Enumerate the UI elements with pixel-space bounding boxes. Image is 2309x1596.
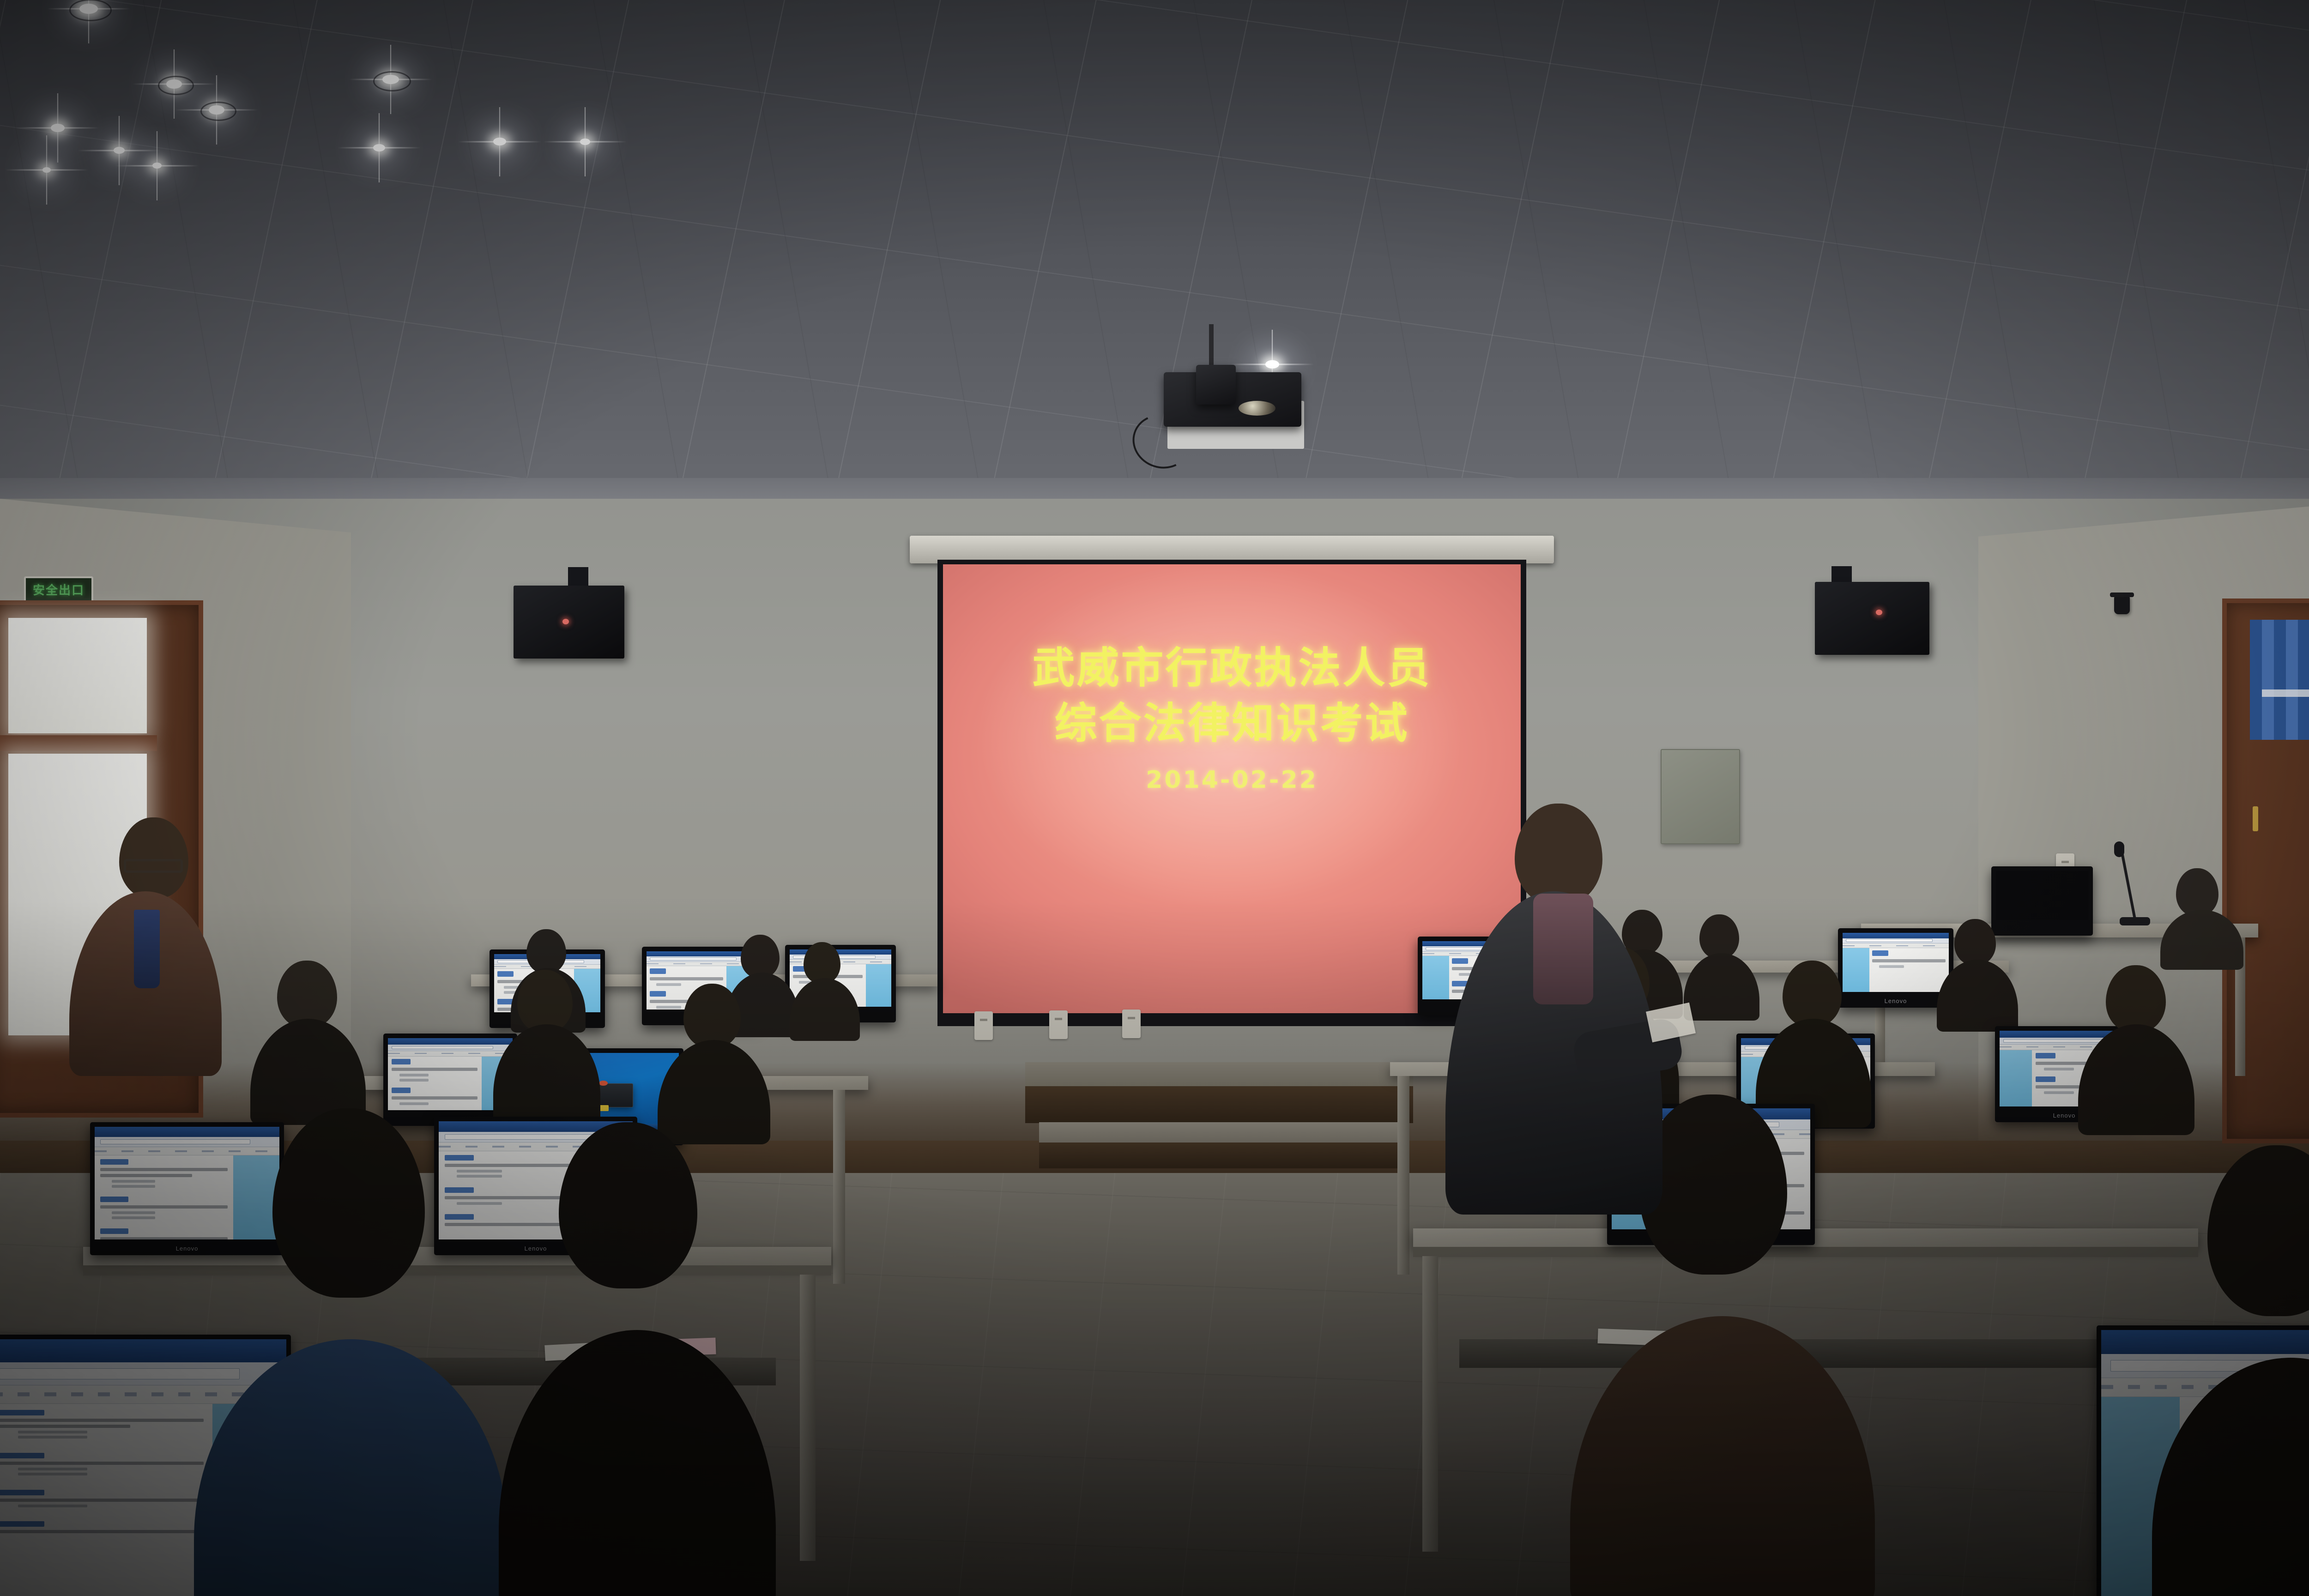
exam-sidebar[interactable] xyxy=(233,1155,279,1239)
answer-option[interactable] xyxy=(18,1436,87,1439)
person-head xyxy=(517,970,573,1033)
door-right-window-blinds xyxy=(2250,620,2309,740)
question-number-badge xyxy=(1452,958,1468,964)
downlight-icon xyxy=(493,138,506,145)
proctor-glasses-icon xyxy=(124,859,183,873)
address-input[interactable] xyxy=(445,1134,603,1140)
downlight-icon xyxy=(580,139,590,145)
answer-option[interactable] xyxy=(457,1175,502,1178)
answer-option[interactable] xyxy=(399,1102,429,1105)
wall-speaker-right xyxy=(1815,582,1929,655)
outlet-slot xyxy=(1055,1018,1062,1020)
power-outlet xyxy=(1122,1010,1141,1038)
address-input[interactable] xyxy=(2003,1039,2109,1043)
browser-titlebar xyxy=(647,951,753,956)
browser-titlebar xyxy=(790,949,891,955)
question-block xyxy=(445,1214,579,1226)
desk-leg xyxy=(800,1275,816,1561)
question-block xyxy=(392,1088,478,1105)
proctor-tie xyxy=(134,910,160,988)
door-left-mullion xyxy=(0,735,157,751)
question-number-badge xyxy=(650,991,666,997)
question-number-badge xyxy=(0,1410,44,1415)
answer-option[interactable] xyxy=(399,1074,429,1076)
question-text-line xyxy=(392,1068,478,1071)
answer-option[interactable] xyxy=(2044,1091,2074,1094)
proctor-monitor xyxy=(1991,866,2093,936)
downlight-icon xyxy=(1265,360,1279,369)
question-block xyxy=(0,1521,204,1533)
person-head xyxy=(2176,868,2218,916)
exam-question-list xyxy=(0,1404,212,1596)
monitor-brand-label: Lenovo xyxy=(2053,1112,2076,1119)
question-text-line xyxy=(0,1425,130,1428)
monitor-near-l1: Lenovo xyxy=(90,1122,284,1255)
person-head xyxy=(741,935,780,978)
projection-screen-case xyxy=(910,536,1554,563)
question-number-badge xyxy=(2036,1076,2055,1082)
question-block xyxy=(392,1059,478,1082)
question-number-badge xyxy=(100,1228,128,1234)
question-block xyxy=(0,1453,204,1475)
exam-sidebar[interactable] xyxy=(1422,956,1449,999)
downlight-icon xyxy=(373,144,385,151)
microphone-head-icon xyxy=(2114,841,2124,857)
person-head xyxy=(272,1108,425,1298)
projection-title: 武威市行政执法人员 综合法律知识考试 xyxy=(943,641,1521,751)
monitor-brand-label: Lenovo xyxy=(525,1245,547,1252)
downlight-ring xyxy=(158,76,194,95)
monitor-back-r2: Lenovo xyxy=(1838,928,1953,1008)
projector-lens-icon xyxy=(1239,401,1275,416)
exam-page xyxy=(95,1155,279,1239)
question-number-badge xyxy=(1872,950,1888,956)
desk-leg xyxy=(1397,1076,1409,1275)
answer-option[interactable] xyxy=(656,1006,681,1009)
browser-titlebar xyxy=(388,1038,513,1045)
downlight-icon xyxy=(114,147,125,154)
exam-sidebar[interactable] xyxy=(866,964,891,1007)
speaker-led-right xyxy=(1876,610,1882,615)
downlight-ring xyxy=(373,71,411,91)
browser-titlebar xyxy=(0,1339,286,1362)
question-number-badge xyxy=(445,1214,474,1220)
front-podium-riser xyxy=(1025,1086,1413,1123)
address-input[interactable] xyxy=(100,1139,250,1144)
question-text-line xyxy=(445,1196,579,1199)
answer-option[interactable] xyxy=(2044,1068,2074,1070)
question-number-badge xyxy=(0,1453,44,1458)
downlight-icon xyxy=(51,124,65,132)
answer-option[interactable] xyxy=(112,1216,155,1219)
question-text-line xyxy=(445,1223,579,1226)
question-text-line xyxy=(100,1168,228,1171)
desk-near-right-edge xyxy=(1413,1247,2198,1257)
door-left-glass-upper xyxy=(8,618,147,733)
speaker-led-left xyxy=(562,619,569,624)
question-text-line xyxy=(100,1237,228,1239)
question-number-badge xyxy=(0,1490,44,1495)
proctor-head xyxy=(119,817,188,899)
answer-option[interactable] xyxy=(18,1505,87,1507)
question-number-badge xyxy=(650,968,666,974)
projector-yoke xyxy=(1196,365,1236,405)
classroom-scene: 武威市行政执法人员 综合法律知识考试 2014-02-22 安全出口 安全出口 xyxy=(0,0,2309,1596)
question-block xyxy=(0,1490,204,1507)
downlight-ring xyxy=(200,102,236,121)
browser-address-bar[interactable] xyxy=(388,1045,513,1051)
exam-sidebar[interactable] xyxy=(1843,948,1869,992)
address-input[interactable] xyxy=(1846,939,1933,942)
question-block xyxy=(445,1187,579,1205)
browser-address-bar[interactable] xyxy=(0,1362,286,1385)
front-step xyxy=(1039,1122,1399,1143)
monitor-screen xyxy=(95,1127,279,1239)
answer-option[interactable] xyxy=(656,983,681,986)
downlight-ring xyxy=(69,0,112,21)
wall-speaker-left xyxy=(514,586,624,659)
monitor-screen xyxy=(1843,933,1949,992)
question-block xyxy=(100,1228,228,1239)
proctor-scarf xyxy=(1533,894,1593,1004)
address-input[interactable] xyxy=(0,1368,240,1379)
question-text-line xyxy=(0,1419,204,1422)
question-block xyxy=(0,1410,204,1439)
proctor-head xyxy=(1515,804,1602,905)
person-head xyxy=(683,984,741,1048)
answer-option[interactable] xyxy=(18,1473,87,1475)
desk-leg xyxy=(833,1090,845,1284)
outlet-slot xyxy=(980,1019,987,1021)
browser-address-bar[interactable] xyxy=(1843,938,1949,944)
question-number-badge xyxy=(0,1521,44,1527)
person-head xyxy=(1954,919,1996,965)
browser-address-bar[interactable] xyxy=(95,1137,279,1147)
answer-option[interactable] xyxy=(112,1211,155,1214)
answer-option[interactable] xyxy=(18,1431,87,1433)
answer-option[interactable] xyxy=(112,1180,155,1183)
answer-option[interactable] xyxy=(1879,965,1904,968)
outlet-slot xyxy=(2061,861,2069,863)
question-text-line xyxy=(100,1174,192,1177)
person-head xyxy=(804,942,840,984)
question-text-line xyxy=(0,1499,204,1502)
question-text-line xyxy=(1872,959,1946,962)
question-text-line xyxy=(100,1205,228,1209)
browser-titlebar xyxy=(1843,933,1949,938)
browser-titlebar xyxy=(2101,1330,2309,1354)
answer-option[interactable] xyxy=(457,1202,502,1205)
electrical-panel-box xyxy=(1661,749,1740,844)
outlet-slot xyxy=(1128,1017,1135,1019)
monitor-brand-label: Lenovo xyxy=(176,1245,199,1252)
exam-question-list xyxy=(1869,948,1949,992)
exam-sidebar[interactable] xyxy=(2000,1050,2032,1106)
question-number-badge xyxy=(100,1159,128,1165)
question-number-badge xyxy=(100,1197,128,1202)
question-block xyxy=(1872,950,1946,968)
browser-bookmarks-bar[interactable] xyxy=(388,1051,513,1057)
browser-address-bar[interactable] xyxy=(647,956,753,961)
address-input[interactable] xyxy=(392,1046,493,1050)
address-input[interactable] xyxy=(650,957,737,961)
ceiling xyxy=(0,0,2309,545)
downlight-icon xyxy=(42,167,51,173)
proctor-monitor-screen xyxy=(1996,871,2088,920)
question-text-line xyxy=(0,1462,204,1465)
monitor-brand-label: Lenovo xyxy=(1885,997,1907,1004)
exit-sign-left: 安全出口 xyxy=(24,576,93,602)
exam-page xyxy=(1843,948,1949,992)
person-head xyxy=(559,1122,697,1288)
wall-camera-icon xyxy=(2114,596,2130,614)
door-right-handle[interactable] xyxy=(2253,806,2258,831)
exit-sign-left-label: 安全出口 xyxy=(33,581,85,598)
front-step-riser xyxy=(1039,1143,1399,1168)
power-outlet xyxy=(974,1011,993,1040)
question-text-line xyxy=(650,977,723,980)
browser-bookmarks-bar[interactable] xyxy=(95,1147,279,1155)
projection-title-line-1: 武威市行政执法人员 xyxy=(943,641,1521,696)
dialog-indicator-red xyxy=(599,1081,608,1086)
question-block xyxy=(100,1159,228,1188)
browser-bookmarks-bar[interactable] xyxy=(1843,943,1949,948)
person-head xyxy=(1699,914,1739,959)
answer-option[interactable] xyxy=(18,1468,87,1470)
front-podium-platform xyxy=(1025,1062,1413,1088)
desk-leg xyxy=(1422,1256,1438,1552)
projection-title-line-2: 综合法律知识考试 xyxy=(943,696,1521,751)
question-number-badge xyxy=(497,999,514,1004)
answer-option[interactable] xyxy=(399,1079,429,1082)
power-outlet xyxy=(1049,1010,1068,1039)
desk-near-left-edge xyxy=(83,1265,831,1276)
question-number-badge xyxy=(445,1187,474,1193)
exam-question-list xyxy=(388,1057,482,1110)
question-text-line xyxy=(0,1530,204,1533)
person-head xyxy=(1783,961,1842,1027)
person-head xyxy=(526,929,566,973)
question-text-line xyxy=(392,1096,478,1100)
question-number-badge xyxy=(392,1088,411,1093)
person-head xyxy=(2106,965,2166,1033)
answer-option[interactable] xyxy=(457,1170,502,1173)
answer-option[interactable] xyxy=(112,1185,155,1188)
question-block xyxy=(445,1155,579,1178)
question-text-line xyxy=(445,1164,579,1167)
question-block xyxy=(100,1197,228,1219)
downlight-icon xyxy=(152,163,162,169)
question-number-badge xyxy=(392,1059,411,1064)
browser-bookmarks-bar[interactable] xyxy=(647,962,753,967)
question-number-badge xyxy=(445,1155,474,1161)
question-number-badge xyxy=(2036,1053,2055,1058)
projection-date: 2014-02-22 xyxy=(943,766,1521,794)
speaker-bracket-left xyxy=(568,567,588,586)
exam-question-list xyxy=(95,1155,233,1239)
question-number-badge xyxy=(497,971,514,977)
browser-titlebar xyxy=(95,1127,279,1137)
person-head xyxy=(277,961,337,1028)
